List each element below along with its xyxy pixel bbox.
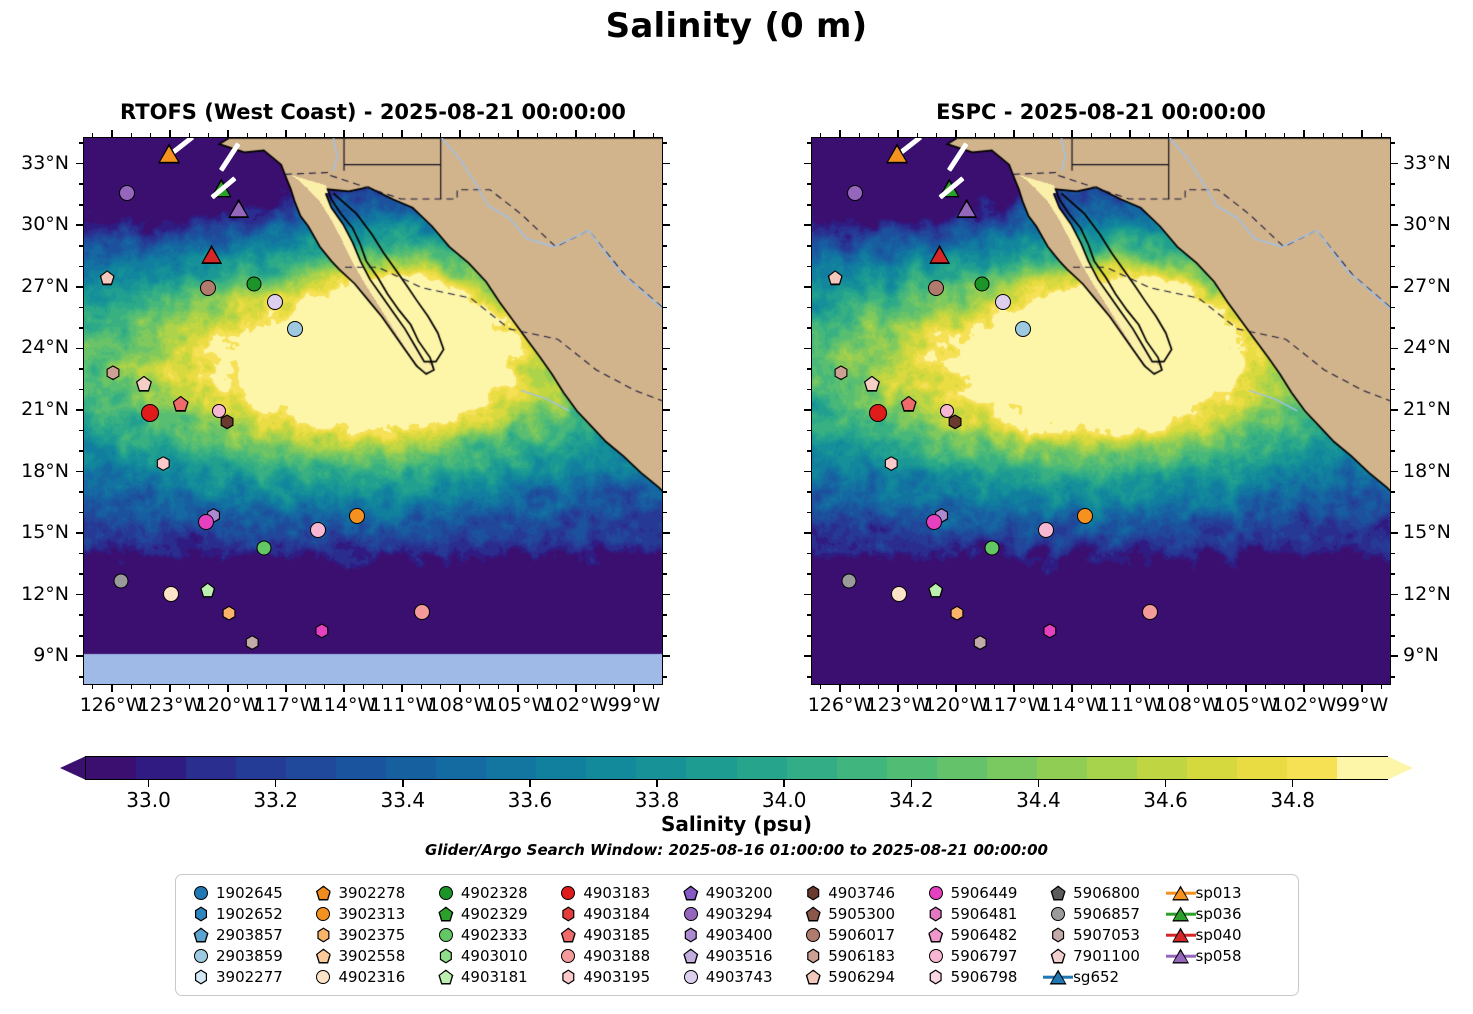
lat-tick-minor-r xyxy=(1391,183,1395,185)
legend-label: 4902329 xyxy=(461,905,528,923)
lat-tick-minor xyxy=(807,142,811,144)
colorbar-segment xyxy=(937,757,988,779)
map-marker-5906449[interactable] xyxy=(1042,623,1057,638)
lon-tick-minor xyxy=(917,685,919,689)
legend-item-empty xyxy=(1166,967,1288,987)
lon-tick-top xyxy=(343,130,345,137)
map-panel-rtofs[interactable] xyxy=(83,137,663,685)
lat-tick-minor-r xyxy=(663,635,667,637)
colorbar-segment xyxy=(86,757,137,779)
lon-tick-top xyxy=(227,130,229,137)
legend-item-5906482[interactable]: 5906482 xyxy=(921,925,1043,945)
lon-tick-minor xyxy=(975,685,977,689)
map-marker-5906797[interactable] xyxy=(212,404,226,418)
circle-icon xyxy=(684,907,698,921)
lon-tick-minor xyxy=(1342,685,1344,689)
legend-label: 4903294 xyxy=(706,905,773,923)
lat-tick xyxy=(76,655,83,657)
lat-tick-minor xyxy=(807,327,811,329)
legend-item-sp040[interactable]: sp040 xyxy=(1166,925,1288,945)
lon-tick xyxy=(1187,685,1189,692)
legend-marker-pent-icon xyxy=(1043,883,1073,903)
lon-tick-minor-top xyxy=(994,133,996,137)
legend-item-2903857[interactable]: 2903857 xyxy=(186,925,308,945)
legend-item-4903183[interactable]: 4903183 xyxy=(553,883,675,903)
colorbar-segment xyxy=(887,757,938,779)
lat-tick-minor xyxy=(807,204,811,206)
lon-tick-minor-top xyxy=(975,133,977,137)
lat-tick-minor-r xyxy=(1391,450,1395,452)
lat-tick-minor xyxy=(807,491,811,493)
map-marker-2903859[interactable] xyxy=(1015,321,1031,337)
lat-tick-minor xyxy=(807,430,811,432)
lon-tick-minor xyxy=(1323,685,1325,689)
legend-label: 4903181 xyxy=(461,968,528,986)
lon-tick-minor xyxy=(1381,685,1383,689)
legend-item-5906798[interactable]: 5906798 xyxy=(921,967,1043,987)
legend-item-3902375[interactable]: 3902375 xyxy=(308,925,430,945)
colorbar-segment xyxy=(386,757,437,779)
map-marker-3902313[interactable] xyxy=(1077,508,1093,524)
legend-item-2903859[interactable]: 2903859 xyxy=(186,946,308,966)
map-marker-5907053[interactable] xyxy=(973,635,988,650)
legend-item-4903184[interactable]: 4903184 xyxy=(553,904,675,924)
legend-label: 4903746 xyxy=(828,884,895,902)
colorbar-tick-label: 33.8 xyxy=(635,788,680,812)
legend-item-4903185[interactable]: 4903185 xyxy=(553,925,675,945)
circle-icon xyxy=(316,907,330,921)
legend-label: 5906449 xyxy=(951,884,1018,902)
legend-label: sp058 xyxy=(1196,947,1242,965)
lat-tick-minor xyxy=(807,368,811,370)
map-marker-3902375[interactable] xyxy=(950,606,965,621)
map-marker-5906294b[interactable] xyxy=(136,376,152,392)
map-marker-5906294[interactable] xyxy=(100,270,115,285)
legend-item-1902652[interactable]: 1902652 xyxy=(186,904,308,924)
lon-tick-top xyxy=(897,130,899,137)
lat-tick xyxy=(1391,286,1398,288)
legend-label: 4902328 xyxy=(461,884,528,902)
lon-tick xyxy=(575,685,577,692)
lon-tick-top xyxy=(1303,130,1305,137)
map-marker-4902316[interactable] xyxy=(163,586,179,602)
circle-icon xyxy=(684,970,698,984)
lat-tick-minor xyxy=(79,245,83,247)
lat-tick-minor-r xyxy=(663,266,667,268)
map-marker-5906183[interactable] xyxy=(106,365,121,380)
lat-tick xyxy=(76,532,83,534)
lat-tick-label-left: 9°N xyxy=(0,644,69,666)
map-marker-4903743[interactable] xyxy=(267,294,283,310)
map-marker-5906857[interactable] xyxy=(113,574,128,589)
lat-tick-minor xyxy=(79,450,83,452)
legend-marker-circle-icon xyxy=(921,883,951,903)
lon-tick-minor xyxy=(653,685,655,689)
legend-item-7901100[interactable]: 7901100 xyxy=(1043,946,1165,966)
legend-item-5906481[interactable]: 5906481 xyxy=(921,904,1043,924)
lat-tick-minor xyxy=(807,450,811,452)
lat-tick-label-right: 9°N xyxy=(1403,644,1473,666)
legend-marker-hex-icon xyxy=(921,904,951,924)
lat-tick xyxy=(1391,163,1398,165)
lon-tick-minor xyxy=(208,685,210,689)
legend-label: 4902333 xyxy=(461,926,528,944)
map-marker-4903185[interactable] xyxy=(173,396,189,412)
map-marker-4903294[interactable] xyxy=(119,185,135,201)
legend-item-sg652[interactable]: sg652 xyxy=(1043,967,1165,987)
legend-item-4903746[interactable]: 4903746 xyxy=(798,883,920,903)
map-marker-sp058[interactable] xyxy=(956,199,977,218)
lat-tick-minor-r xyxy=(1391,389,1395,391)
map-marker-5906797b[interactable] xyxy=(310,522,326,538)
legend-item-5906017[interactable]: 5906017 xyxy=(798,925,920,945)
hexagon-icon xyxy=(806,949,820,964)
legend-item-4903294[interactable]: 4903294 xyxy=(676,904,798,924)
lat-tick-minor-r xyxy=(1391,676,1395,678)
circle-icon xyxy=(439,928,453,942)
lon-tick-minor-top xyxy=(820,133,822,137)
lat-tick-opp xyxy=(663,471,670,473)
circle-icon xyxy=(561,949,575,963)
hexagon-icon xyxy=(316,928,330,943)
legend-item-5906449[interactable]: 5906449 xyxy=(921,883,1043,903)
legend-label: 5906797 xyxy=(951,947,1018,965)
legend-item-5906800[interactable]: 5906800 xyxy=(1043,883,1165,903)
lat-tick-opp xyxy=(804,594,811,596)
legend-label: sg652 xyxy=(1073,968,1119,986)
lon-tick xyxy=(633,685,635,692)
lat-tick-opp xyxy=(804,163,811,165)
colorbar-tick-label: 33.0 xyxy=(126,788,171,812)
lon-tick-top xyxy=(1187,130,1189,137)
legend-label: 4903200 xyxy=(706,884,773,902)
lat-tick-minor xyxy=(79,204,83,206)
legend-label: 5905300 xyxy=(828,905,895,923)
legend-item-4903010[interactable]: 4903010 xyxy=(431,946,553,966)
colorbar-tick xyxy=(402,780,404,787)
legend-item-5906294[interactable]: 5906294 xyxy=(798,967,920,987)
colorbar-segment xyxy=(136,757,187,779)
lat-tick-opp xyxy=(663,409,670,411)
lat-tick-minor xyxy=(807,266,811,268)
lat-tick-minor xyxy=(807,512,811,514)
legend-item-3902278[interactable]: 3902278 xyxy=(308,883,430,903)
legend-marker-hex-icon xyxy=(431,946,461,966)
legend-marker-pent-icon xyxy=(431,904,461,924)
lon-tick-minor xyxy=(1149,685,1151,689)
legend-item-4903188[interactable]: 4903188 xyxy=(553,946,675,966)
hexagon-icon xyxy=(561,907,575,922)
map-marker-5906449b[interactable] xyxy=(198,514,214,530)
colorbar-segment xyxy=(837,757,888,779)
map-marker-4902316[interactable] xyxy=(891,586,907,602)
pentagon-icon xyxy=(928,928,943,943)
legend-marker-pent-icon xyxy=(798,967,828,987)
map-marker-2903859[interactable] xyxy=(287,321,303,337)
lat-tick-opp xyxy=(663,224,670,226)
lat-tick-minor-r xyxy=(1391,307,1395,309)
lat-tick-minor-r xyxy=(1391,368,1395,370)
legend-item-5907053[interactable]: 5907053 xyxy=(1043,925,1165,945)
colorbar-tick-label: 34.4 xyxy=(1016,788,1061,812)
map-marker-5906183[interactable] xyxy=(834,365,849,380)
pentagon-icon xyxy=(683,949,698,964)
legend-item-4902333[interactable]: 4902333 xyxy=(431,925,553,945)
circle-icon xyxy=(194,949,208,963)
lat-tick-minor xyxy=(807,676,811,678)
colorbar-segment xyxy=(636,757,687,779)
map-marker-sp040[interactable] xyxy=(201,245,222,264)
map-marker-sp040[interactable] xyxy=(929,245,950,264)
legend-marker-tri-line-icon xyxy=(1166,925,1196,945)
lon-tick-minor-top xyxy=(878,133,880,137)
legend-item-4903195[interactable]: 4903195 xyxy=(553,967,675,987)
legend-item-sp058[interactable]: sp058 xyxy=(1166,946,1288,966)
lon-tick-minor xyxy=(189,685,191,689)
map-marker-4903195[interactable] xyxy=(156,456,171,471)
legend-item-4903200[interactable]: 4903200 xyxy=(676,883,798,903)
legend-label: 4902316 xyxy=(338,968,405,986)
lon-tick-minor xyxy=(859,685,861,689)
marker-legend[interactable]: 1902645390227849023284903183490320049037… xyxy=(175,874,1299,996)
map-marker-4903188[interactable] xyxy=(1142,604,1158,620)
lat-tick xyxy=(1391,532,1398,534)
legend-label: sp013 xyxy=(1196,884,1242,902)
legend-marker-tri-line-icon xyxy=(1166,946,1196,966)
lon-tick-minor xyxy=(1110,685,1112,689)
map-marker-4902333[interactable] xyxy=(984,541,999,556)
legend-marker-circle-icon xyxy=(676,904,706,924)
lat-tick-minor xyxy=(79,266,83,268)
map-marker-4903185[interactable] xyxy=(901,396,917,412)
map-marker-4902328[interactable] xyxy=(975,276,990,291)
lat-tick-minor-r xyxy=(663,183,667,185)
legend-label: 5906294 xyxy=(828,968,895,986)
legend-marker-circle-icon xyxy=(1043,904,1073,924)
lon-tick xyxy=(1303,685,1305,692)
legend-marker-circle-icon xyxy=(921,946,951,966)
colorbar-segment xyxy=(436,757,487,779)
lat-tick-minor xyxy=(79,573,83,575)
lat-tick-opp xyxy=(663,348,670,350)
lon-tick-minor-top xyxy=(1342,133,1344,137)
pentagon-icon xyxy=(806,907,821,922)
lat-tick-minor-r xyxy=(1391,635,1395,637)
map-marker-5906294[interactable] xyxy=(828,270,843,285)
lat-tick-label-right: 33°N xyxy=(1403,152,1473,174)
lon-tick-minor xyxy=(1226,685,1228,689)
map-marker-4903188[interactable] xyxy=(414,604,430,620)
lon-tick xyxy=(955,685,957,692)
legend-item-3902277[interactable]: 3902277 xyxy=(186,967,308,987)
lon-tick-label: 99°W xyxy=(589,694,679,716)
legend-marker-hex-icon xyxy=(798,883,828,903)
lat-tick-minor-r xyxy=(663,676,667,678)
legend-label: 3902313 xyxy=(338,905,405,923)
legend-label: 1902652 xyxy=(216,905,283,923)
lat-tick-label-right: 15°N xyxy=(1403,521,1473,543)
lon-tick-minor xyxy=(363,685,365,689)
colorbar-segment xyxy=(286,757,337,779)
legend-marker-tri-line-icon xyxy=(1166,883,1196,903)
legend-marker-circle-icon xyxy=(676,967,706,987)
lat-tick-minor xyxy=(79,676,83,678)
legend-marker-circle-icon xyxy=(308,904,338,924)
lon-tick-minor xyxy=(820,685,822,689)
lat-tick-label-right: 18°N xyxy=(1403,460,1473,482)
legend-item-4903743[interactable]: 4903743 xyxy=(676,967,798,987)
lon-tick-minor-top xyxy=(324,133,326,137)
lat-tick-minor-r xyxy=(663,553,667,555)
map-marker-4903183[interactable] xyxy=(869,404,887,422)
hexagon-icon xyxy=(194,970,208,985)
legend-item-1902645[interactable]: 1902645 xyxy=(186,883,308,903)
map-marker-4903195[interactable] xyxy=(884,456,899,471)
legend-marker-hex-icon xyxy=(676,925,706,945)
lat-tick-minor-r xyxy=(663,614,667,616)
lat-tick-minor-r xyxy=(663,450,667,452)
map-marker-5906017[interactable] xyxy=(200,280,216,296)
legend-label: 2903857 xyxy=(216,926,283,944)
map-marker-4903294[interactable] xyxy=(847,185,863,201)
legend-item-4902328[interactable]: 4902328 xyxy=(431,883,553,903)
circle-icon xyxy=(561,886,575,900)
map-marker-5906449[interactable] xyxy=(314,623,329,638)
map-marker-5906017[interactable] xyxy=(928,280,944,296)
lon-tick-minor-top xyxy=(1091,133,1093,137)
lat-tick-minor xyxy=(79,183,83,185)
lon-tick xyxy=(517,685,519,692)
map-marker-sp013[interactable] xyxy=(158,143,180,163)
lon-tick-top xyxy=(1129,130,1131,137)
lat-tick-minor xyxy=(79,430,83,432)
map-marker-5906449b[interactable] xyxy=(926,514,942,530)
lon-tick xyxy=(401,685,403,692)
lon-tick xyxy=(1129,685,1131,692)
lon-tick xyxy=(227,685,229,692)
lon-tick-minor xyxy=(994,685,996,689)
legend-label: 1902645 xyxy=(216,884,283,902)
panel-title-espc: ESPC - 2025-08-21 00:00:00 xyxy=(811,100,1391,124)
lon-tick-minor xyxy=(1207,685,1209,689)
legend-label: 4903195 xyxy=(583,968,650,986)
map-marker-5906797b[interactable] xyxy=(1038,522,1054,538)
legend-marker-pent-icon xyxy=(308,946,338,966)
legend-item-4902316[interactable]: 4902316 xyxy=(308,967,430,987)
colorbar-gradient xyxy=(85,756,1388,780)
legend-marker-hex-icon xyxy=(308,925,338,945)
legend-item-5905300[interactable]: 5905300 xyxy=(798,904,920,924)
legend-label: 3902278 xyxy=(338,884,405,902)
colorbar xyxy=(60,756,1413,780)
map-marker-5906857[interactable] xyxy=(841,574,856,589)
lat-tick-minor-r xyxy=(663,430,667,432)
legend-item-sp036[interactable]: sp036 xyxy=(1166,904,1288,924)
lon-tick-minor-top xyxy=(1284,133,1286,137)
lon-tick-minor xyxy=(614,685,616,689)
legend-label: 5906800 xyxy=(1073,884,1140,902)
colorbar-tick xyxy=(148,780,150,787)
lat-tick-minor-r xyxy=(1391,142,1395,144)
map-marker-5906797[interactable] xyxy=(940,404,954,418)
legend-marker-pent-icon xyxy=(921,925,951,945)
legend-item-4903400[interactable]: 4903400 xyxy=(676,925,798,945)
colorbar-extend-max-icon xyxy=(1387,756,1413,780)
legend-item-3902313[interactable]: 3902313 xyxy=(308,904,430,924)
legend-label: 4903185 xyxy=(583,926,650,944)
lon-tick-minor xyxy=(1168,685,1170,689)
lat-tick xyxy=(76,224,83,226)
colorbar-segment xyxy=(1037,757,1088,779)
map-marker-4903183[interactable] xyxy=(141,404,159,422)
pentagon-icon xyxy=(1051,949,1066,964)
map-marker-4903181[interactable] xyxy=(200,582,215,597)
lat-tick-minor xyxy=(79,307,83,309)
colorbar-segment xyxy=(486,757,537,779)
lon-tick-top xyxy=(1013,130,1015,137)
lon-tick xyxy=(897,685,899,692)
map-marker-4903181[interactable] xyxy=(928,582,943,597)
map-marker-5906294b[interactable] xyxy=(864,376,880,392)
map-marker-3902375[interactable] xyxy=(222,606,237,621)
legend-item-5906797[interactable]: 5906797 xyxy=(921,946,1043,966)
legend-item-4903181[interactable]: 4903181 xyxy=(431,967,553,987)
colorbar-segment xyxy=(787,757,838,779)
lon-tick-minor xyxy=(92,685,94,689)
map-marker-5907053[interactable] xyxy=(245,635,260,650)
legend-label: 3902375 xyxy=(338,926,405,944)
lat-tick-label-left: 30°N xyxy=(0,213,69,235)
legend-marker-tri-line-icon xyxy=(1166,904,1196,924)
map-marker-4903743[interactable] xyxy=(995,294,1011,310)
legend-label: 5906481 xyxy=(951,905,1018,923)
legend-marker-pent-icon xyxy=(553,925,583,945)
legend-item-4902329[interactable]: 4902329 xyxy=(431,904,553,924)
map-marker-4902333[interactable] xyxy=(256,541,271,556)
lat-tick-label-left: 18°N xyxy=(0,460,69,482)
map-marker-3902313[interactable] xyxy=(349,508,365,524)
map-marker-sp058[interactable] xyxy=(228,199,249,218)
legend-item-sp013[interactable]: sp013 xyxy=(1166,883,1288,903)
colorbar-tick xyxy=(1292,780,1294,787)
legend-label: 4903188 xyxy=(583,947,650,965)
lat-tick-label-right: 30°N xyxy=(1403,213,1473,235)
legend-marker-pent-icon xyxy=(676,946,706,966)
lat-tick-opp xyxy=(663,655,670,657)
legend-label: sp036 xyxy=(1196,905,1242,923)
lat-tick xyxy=(1391,594,1398,596)
pentagon-icon xyxy=(438,907,453,922)
lat-tick-opp xyxy=(804,532,811,534)
lat-tick-minor xyxy=(79,635,83,637)
legend-item-4903516[interactable]: 4903516 xyxy=(676,946,798,966)
legend-item-5906857[interactable]: 5906857 xyxy=(1043,904,1165,924)
lat-tick-opp xyxy=(663,286,670,288)
lon-tick-minor-top xyxy=(479,133,481,137)
colorbar-segment xyxy=(686,757,737,779)
legend-item-5906183[interactable]: 5906183 xyxy=(798,946,920,966)
colorbar-segment xyxy=(1087,757,1138,779)
lon-tick-minor-top xyxy=(1207,133,1209,137)
legend-item-3902558[interactable]: 3902558 xyxy=(308,946,430,966)
map-marker-sp013[interactable] xyxy=(886,143,908,163)
lon-tick-minor xyxy=(878,685,880,689)
lat-tick-minor-r xyxy=(663,142,667,144)
colorbar-label: Salinity (psu) xyxy=(0,812,1473,836)
map-marker-4902328[interactable] xyxy=(247,276,262,291)
colorbar-tick xyxy=(656,780,658,787)
map-panel-espc[interactable] xyxy=(811,137,1391,685)
